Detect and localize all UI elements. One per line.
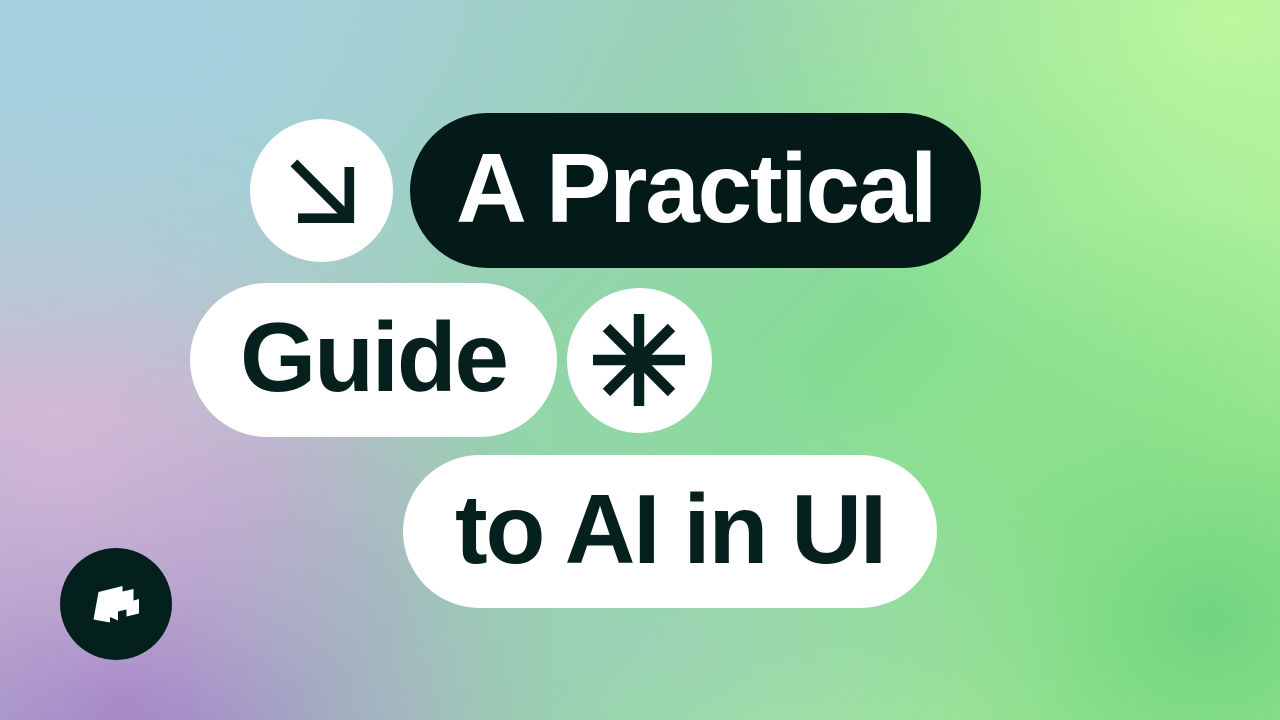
- headline-text-line-2: Guide: [240, 308, 507, 406]
- asterisk-star-icon-badge: [567, 288, 712, 433]
- headline-row-3: to AI in UI: [403, 455, 937, 608]
- asterisk-star-icon: [589, 310, 689, 410]
- headline-pill-to-ai-in-ui: to AI in UI: [403, 455, 937, 608]
- brand-logo[interactable]: [60, 548, 172, 660]
- arrow-down-right-icon: [274, 143, 370, 239]
- headline-row-1: A Practical: [250, 113, 981, 268]
- headline-composition: A Practical Guide to AI in UI: [0, 0, 1280, 720]
- lightning-flag-logo-icon: [85, 573, 147, 635]
- headline-pill-guide: Guide: [190, 283, 557, 437]
- headline-text-line-1: A Practical: [456, 139, 935, 237]
- headline-row-2: Guide: [190, 283, 712, 437]
- headline-pill-a-practical: A Practical: [410, 113, 981, 268]
- headline-text-line-3: to AI in UI: [455, 480, 885, 578]
- arrow-down-right-icon-badge: [250, 119, 393, 262]
